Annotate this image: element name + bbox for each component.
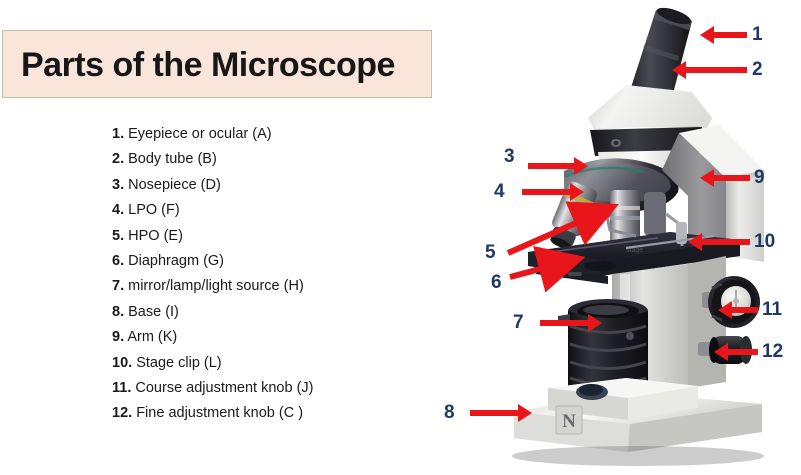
callout-12: 12 (762, 342, 783, 361)
list-item-label: Nosepiece (D) (128, 177, 221, 193)
page-title: Parts of the Microscope (21, 37, 395, 93)
list-item: 10. Stage clip (L) (112, 351, 412, 376)
list-item-label: Fine adjustment knob (C ) (136, 405, 303, 421)
list-item-number: 12. (112, 405, 132, 421)
list-item-number: 5. (112, 228, 124, 244)
list-item-label: Body tube (B) (128, 151, 217, 167)
list-item-label: LPO (F) (128, 202, 180, 218)
list-item: 2. Body tube (B) (112, 147, 412, 172)
list-item: 9. Arm (K) (112, 325, 412, 350)
list-item: 6. Diaphragm (G) (112, 249, 412, 274)
list-item: 3. Nosepiece (D) (112, 173, 412, 198)
list-item-number: 3. (112, 177, 124, 193)
list-item-label: Arm (K) (127, 329, 177, 345)
list-item-label: HPO (E) (128, 228, 183, 244)
callout-9: 9 (754, 168, 765, 187)
list-item-label: Base (I) (128, 304, 179, 320)
list-item-number: 9. (112, 329, 124, 345)
callout-6: 6 (491, 273, 502, 292)
list-item-number: 8. (112, 304, 124, 320)
list-item-label: Course adjustment knob (J) (135, 380, 313, 396)
callout-7: 7 (513, 313, 524, 332)
base-badge-letter: N (562, 411, 576, 432)
list-item: 8. Base (I) (112, 300, 412, 325)
list-item-number: 7. (112, 278, 124, 294)
list-item-label: Stage clip (L) (136, 355, 221, 371)
list-item-label: Diaphragm (G) (128, 253, 224, 269)
list-item-number: 2. (112, 151, 124, 167)
list-item-number: 6. (112, 253, 124, 269)
callout-11: 11 (762, 300, 782, 319)
list-item-number: 11. (112, 380, 131, 396)
list-item: 4. LPO (F) (112, 198, 412, 223)
callout-5: 5 (485, 243, 496, 262)
list-item: 7. mirror/lamp/light source (H) (112, 274, 412, 299)
list-item: 12. Fine adjustment knob (C ) (112, 401, 412, 426)
callout-10: 10 (754, 232, 775, 251)
list-item-number: 10. (112, 355, 132, 371)
list-item: 5. HPO (E) (112, 224, 412, 249)
title-banner: Parts of the Microscope (2, 30, 432, 98)
arrow-to-diaphragm (496, 248, 606, 288)
callout-8: 8 (444, 403, 455, 422)
list-item: 11. Course adjustment knob (J) (112, 376, 412, 401)
callout-3: 3 (504, 147, 515, 166)
microscope-base: N (512, 378, 764, 466)
list-item-label: mirror/lamp/light source (H) (128, 278, 304, 294)
callout-1: 1 (752, 25, 763, 44)
parts-list: 1. Eyepiece or ocular (A) 2. Body tube (… (112, 122, 412, 427)
list-item-number: 4. (112, 202, 124, 218)
callout-2: 2 (752, 60, 763, 79)
list-item-label: Eyepiece or ocular (A) (128, 126, 271, 142)
list-item-number: 1. (112, 126, 124, 142)
list-item: 1. Eyepiece or ocular (A) (112, 122, 412, 147)
